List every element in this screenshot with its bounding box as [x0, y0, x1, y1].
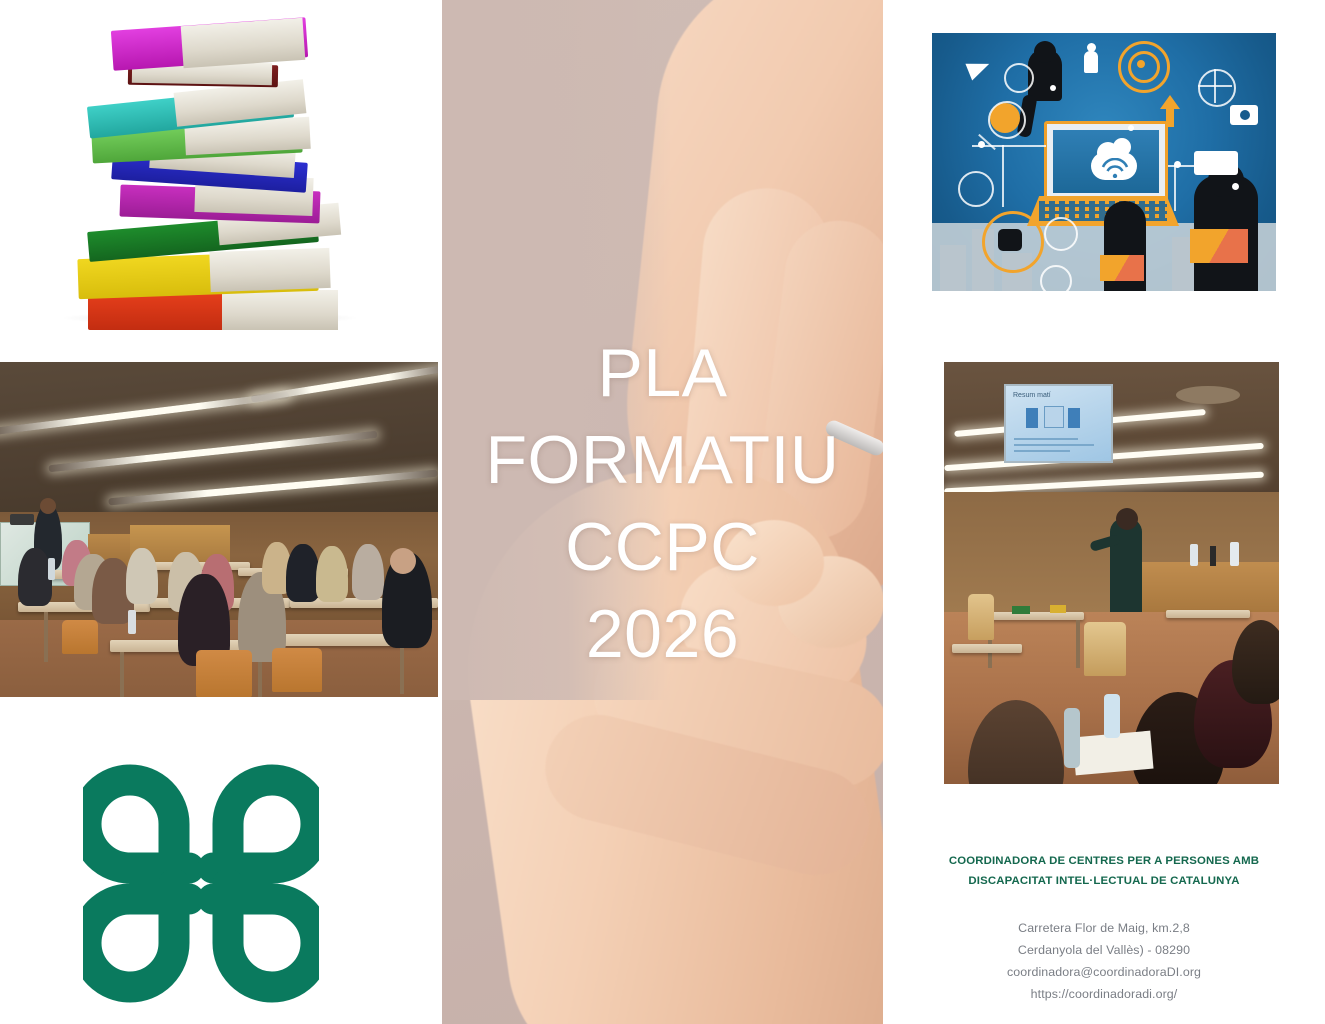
slide-box — [1044, 406, 1064, 428]
click-hand-icon — [998, 229, 1022, 251]
water-bottle — [1230, 542, 1239, 566]
address-city: Cerdanyola del Vallès) - 08290 — [904, 939, 1304, 961]
target-rings-icon — [1128, 51, 1160, 83]
chat-bubble-icon — [1194, 151, 1238, 175]
title-line-2: FORMATIU — [442, 417, 883, 504]
slide-line — [1014, 450, 1070, 452]
node-dot — [1050, 85, 1056, 91]
slide-line — [1014, 438, 1078, 440]
desk — [982, 612, 1084, 620]
connector-line — [1168, 165, 1238, 167]
student-figure — [126, 548, 158, 604]
person-laptop-orange — [1100, 255, 1144, 281]
toy-block — [1050, 605, 1066, 613]
center-panel: PLA FORMATIU CCPC 2026 — [442, 0, 883, 1024]
slide-box — [1068, 408, 1080, 428]
upload-arrow-icon — [1160, 95, 1180, 109]
node-dot — [1232, 183, 1239, 190]
person-head — [1034, 41, 1056, 63]
contact-website[interactable]: https://coordinadoradi.org/ — [904, 983, 1304, 1005]
connector-line — [1002, 145, 1004, 207]
classroom-left-image — [0, 362, 438, 697]
avatar-circle-icon — [1040, 265, 1072, 291]
upload-arrow-stem — [1166, 109, 1174, 127]
slide-line — [1014, 444, 1094, 446]
poster-title: PLA FORMATIU CCPC 2026 — [442, 330, 883, 678]
book-red-pages — [222, 290, 338, 330]
chair — [968, 594, 994, 640]
slide-box — [1026, 408, 1038, 428]
water-bottle — [1104, 694, 1120, 738]
globe-icon — [1198, 69, 1236, 107]
laptop-icon — [1044, 121, 1168, 202]
water-bottle — [128, 610, 136, 634]
desk-leg — [44, 612, 48, 662]
title-line-3: CCPC — [442, 504, 883, 591]
cloud-wifi-icon — [1091, 152, 1137, 180]
connector-line — [1174, 165, 1176, 211]
footer-block: COORDINADORA DE CENTRES PER A PERSONES A… — [904, 852, 1304, 1005]
camera-lens — [1240, 110, 1250, 120]
command-loop-logo-icon — [83, 762, 319, 1005]
title-line-4: 2026 — [442, 591, 883, 678]
toy-block — [1012, 606, 1030, 614]
person-icon-head — [1087, 43, 1096, 52]
student-figure — [18, 548, 52, 606]
student-figure — [352, 544, 384, 600]
marker — [1210, 546, 1216, 566]
student-head — [390, 548, 416, 574]
person-laptop-orange — [1190, 229, 1248, 263]
teacher-head — [40, 498, 56, 514]
chair — [196, 650, 252, 697]
person-icon-white — [1084, 51, 1098, 73]
desk — [1166, 610, 1250, 618]
laptop-screen — [1053, 130, 1159, 193]
left-column — [0, 0, 438, 1024]
magnifier-ring — [988, 101, 1026, 139]
book-magenta-top-pages — [181, 18, 306, 68]
connector-line — [972, 145, 1046, 147]
wifi-arcs-icon — [1100, 158, 1130, 178]
org-line-1: COORDINADORA DE CENTRES PER A PERSONES A… — [904, 852, 1304, 872]
progress-ring-icon — [1004, 63, 1034, 93]
chair — [1084, 622, 1126, 676]
projector — [10, 514, 34, 525]
student-figure — [286, 544, 320, 602]
globe-equator — [1198, 85, 1232, 87]
projection-screen: Resum matí — [1004, 384, 1113, 463]
organization-name: COORDINADORA DE CENTRES PER A PERSONES A… — [904, 852, 1304, 892]
address-street: Carretera Flor de Maig, km.2,8 — [904, 917, 1304, 939]
presenter-head — [1116, 508, 1138, 530]
logo-block — [0, 735, 438, 1024]
desk-leg — [1076, 620, 1080, 668]
classroom-right-image: Resum matí — [944, 362, 1279, 784]
target-center-dot — [1137, 60, 1145, 68]
contact-email[interactable]: coordinadora@coordinadoraDI.org — [904, 961, 1304, 983]
building — [940, 245, 966, 291]
water-bottle — [48, 558, 55, 580]
paper-plane-icon — [965, 56, 992, 81]
book-yellow-pages — [209, 248, 330, 292]
org-line-2: DISCAPACITAT INTEL·LECTUAL DE CATALUNYA — [904, 872, 1304, 892]
ceiling-vent — [1176, 386, 1240, 404]
loading-ring-icon — [958, 171, 994, 207]
poster-canvas: PLA FORMATIU CCPC 2026 — [0, 0, 1325, 1024]
right-column: Resum matí — [883, 0, 1325, 1024]
desk-leg — [120, 652, 124, 697]
desk-leg — [400, 646, 404, 694]
student-figure — [316, 546, 348, 602]
node-dot — [1128, 125, 1134, 131]
chair — [272, 648, 322, 692]
books-image — [0, 0, 438, 331]
title-line-1: PLA — [442, 330, 883, 417]
water-bottle — [1190, 544, 1198, 566]
desk — [952, 644, 1022, 653]
chair — [62, 620, 98, 654]
slide-title: Resum matí — [1013, 392, 1051, 399]
avatar-circle-icon — [1044, 217, 1078, 251]
water-bottle — [1064, 708, 1080, 768]
contact-details: Carretera Flor de Maig, km.2,8 Cerdanyol… — [904, 917, 1304, 1005]
digital-technology-image — [932, 33, 1276, 291]
